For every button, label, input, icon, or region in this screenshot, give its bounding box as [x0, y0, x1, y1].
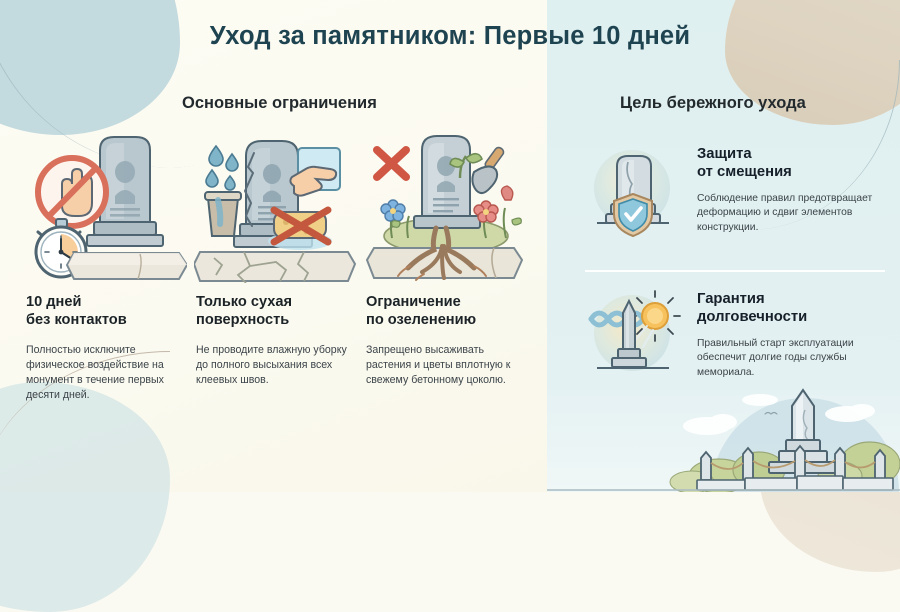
restriction-cards: 10 дней без контактов Полностью исключит… [24, 128, 534, 418]
stone-slab-icon [67, 253, 187, 279]
benefits-divider [585, 270, 885, 272]
memorial-obelisk-scene [547, 384, 900, 492]
card-no-planting-illustration [364, 128, 527, 283]
shield-gravestone-icon [585, 140, 683, 238]
gravestone-icon [414, 136, 480, 228]
obelisk-sun-infinity-icon [585, 285, 683, 383]
section-heading-restrictions: Основные ограничения [182, 94, 377, 113]
hand-cloth-icon [290, 148, 340, 196]
card-no-contact-illustration [24, 128, 187, 283]
card-dry-surface-title: Только сухая поверхность [196, 294, 358, 330]
benefit-durability-title: Гарантия долговечности [697, 291, 887, 327]
card-no-contact-body: Полностью исключите физическое воздейств… [26, 343, 186, 403]
card-no-contact: 10 дней без контактов Полностью исключит… [24, 128, 187, 418]
benefit-protection: Защита от смещения Соблюдение правил пре… [585, 140, 885, 250]
bucket-icon [205, 192, 241, 236]
cracked-slab-icon [194, 252, 355, 283]
infographic-canvas: Уход за памятником: Первые 10 дней Основ… [0, 0, 900, 492]
card-no-planting: Ограничение по озеленению Запрещено выса… [364, 128, 527, 418]
card-no-planting-title: Ограничение по озеленению [366, 294, 528, 330]
card-dry-surface: Только сухая поверхность Не проводите вл… [194, 128, 357, 418]
card-no-planting-body: Запрещено высаживать растения и цветы вп… [366, 343, 526, 388]
trowel-icon [472, 146, 505, 193]
page-title: Уход за памятником: Первые 10 дней [0, 22, 900, 51]
card-dry-surface-body: Не проводите влажную уборку до полного в… [196, 343, 356, 388]
benefit-protection-body: Соблюдение правил предотвращает деформац… [697, 192, 889, 235]
card-dry-surface-illustration [194, 128, 357, 283]
no-sponge-icon [268, 210, 332, 250]
card-no-contact-title: 10 дней без контактов [26, 294, 188, 330]
red-cross-icon [377, 150, 406, 177]
benefit-durability: Гарантия долговечности Правильный старт … [585, 285, 885, 395]
no-hand-icon [38, 158, 106, 226]
water-drops-icon [206, 146, 238, 190]
benefit-durability-body: Правильный старт эксплуатации обеспечит … [697, 337, 889, 380]
section-heading-goal: Цель бережного ухода [620, 94, 806, 113]
benefit-protection-title: Защита от смещения [697, 146, 887, 182]
